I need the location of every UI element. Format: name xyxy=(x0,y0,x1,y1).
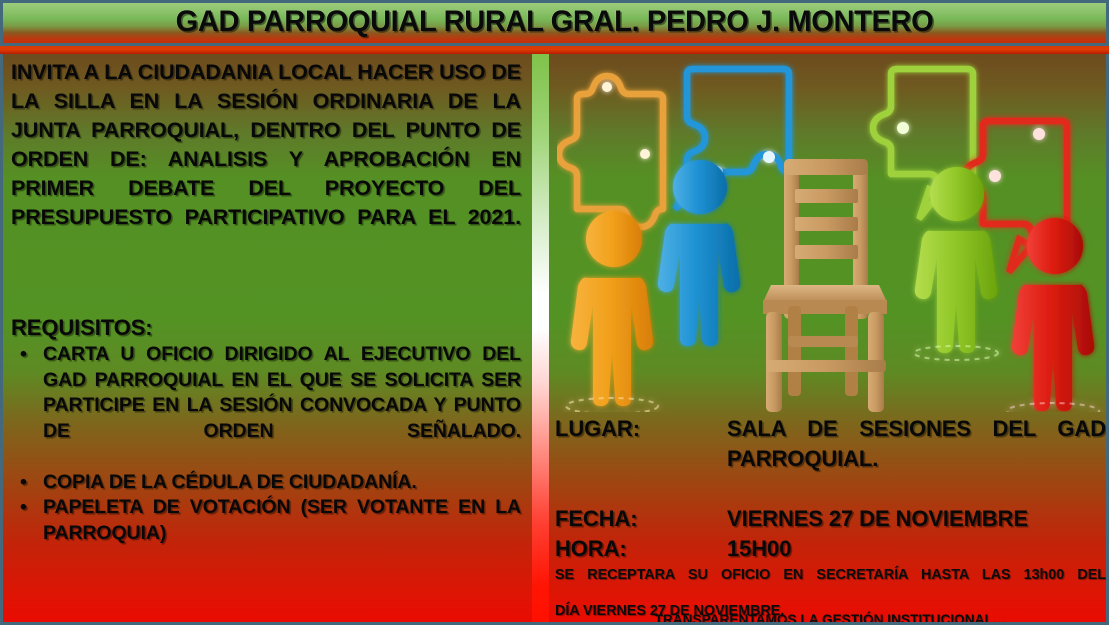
header-banner: GAD PARROQUIAL RURAL GRAL. PEDRO J. MONT… xyxy=(0,0,1109,46)
detail-label: HORA: xyxy=(555,534,727,564)
people-chair-illustration xyxy=(557,54,1106,412)
bullet-icon: • xyxy=(20,342,27,368)
person-orange xyxy=(566,211,658,412)
detail-label: FECHA: xyxy=(555,504,727,534)
header-red-strip xyxy=(0,46,1109,54)
right-content-column: LUGAR: SALA DE SESIONES DEL GAD PARROQUI… xyxy=(549,54,1106,625)
detail-value: SALA DE SESIONES DEL GAD PARROQUIAL. xyxy=(727,414,1106,504)
detail-value: VIERNES 27 DE NOVIEMBRE xyxy=(727,504,1106,534)
invitation-paragraph: INVITA A LA CIUDADANIA LOCAL HACER USO D… xyxy=(11,58,521,261)
page-title: GAD PARROQUIAL RURAL GRAL. PEDRO J. MONT… xyxy=(20,5,1090,39)
detail-value: 15H00 xyxy=(727,534,1106,564)
vertical-divider xyxy=(532,54,549,625)
detail-row-hora: HORA: 15H00 xyxy=(555,534,1106,564)
bullet-icon: • xyxy=(20,495,27,521)
detail-row-lugar: LUGAR: SALA DE SESIONES DEL GAD PARROQUI… xyxy=(555,414,1106,504)
requirement-text: CARTA U OFICIO DIRIGIDO AL EJECUTIVO DEL… xyxy=(43,343,521,467)
poster-body: INVITA A LA CIUDADANIA LOCAL HACER USO D… xyxy=(0,54,1109,625)
detail-row-fecha: FECHA: VIERNES 27 DE NOVIEMBRE xyxy=(555,504,1106,534)
person-blue xyxy=(658,160,740,346)
institutional-slogan: TRANSPARENTAMOS LA GESTIÓN INSTITUCIONAL… xyxy=(555,611,1106,625)
reception-note-line-1: SE RECEPTARA SU OFICIO EN SECRETARÍA HAS… xyxy=(555,566,1106,602)
poster-root: GAD PARROQUIAL RURAL GRAL. PEDRO J. MONT… xyxy=(0,0,1109,625)
list-item: • CARTA U OFICIO DIRIGIDO AL EJECUTIVO D… xyxy=(11,342,521,470)
requirement-text: COPIA DE LA CÉDULA DE CIUDADANÍA. xyxy=(43,471,417,493)
detail-label: LUGAR: xyxy=(555,414,727,444)
person-red xyxy=(1007,218,1099,412)
requirements-list: • CARTA U OFICIO DIRIGIDO AL EJECUTIVO D… xyxy=(11,342,521,572)
requirements-heading: REQUISITOS: xyxy=(11,315,521,341)
event-details: LUGAR: SALA DE SESIONES DEL GAD PARROQUI… xyxy=(555,414,1106,564)
wooden-chair xyxy=(763,159,887,412)
left-text-column: INVITA A LA CIUDADANIA LOCAL HACER USO D… xyxy=(3,54,532,625)
requirement-text: PAPELETA DE VOTACIÓN (SER VOTANTE EN LA … xyxy=(43,496,521,569)
list-item: • COPIA DE LA CÉDULA DE CIUDADANÍA. xyxy=(11,470,521,496)
list-item: • PAPELETA DE VOTACIÓN (SER VOTANTE EN L… xyxy=(11,495,521,572)
bullet-icon: • xyxy=(20,470,27,496)
